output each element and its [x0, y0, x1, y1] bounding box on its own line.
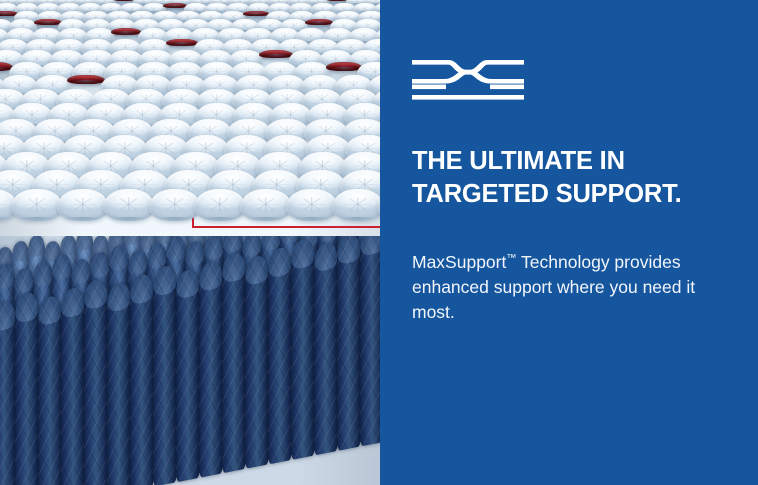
- pocket-coil: [38, 295, 62, 485]
- micro-coil: [11, 189, 63, 221]
- accent-coil: [67, 75, 105, 84]
- pocket-coil: [337, 236, 361, 451]
- product-name: MaxSupport: [412, 252, 506, 272]
- pocket-coil: [245, 254, 269, 469]
- promo-banner: THE ULTIMATE IN TARGETED SUPPORT. MaxSup…: [0, 0, 758, 485]
- micro-coil: [332, 189, 380, 221]
- accent-coil: [111, 28, 141, 35]
- navy-pocket-coil-layer: [0, 236, 380, 485]
- accent-coil: [113, 0, 135, 1]
- pocket-coil: [153, 264, 177, 485]
- accent-coil: [305, 19, 333, 25]
- micro-coil: [57, 189, 109, 221]
- pocket-coil: [15, 291, 39, 485]
- wave-lines-logo-icon: [412, 58, 524, 102]
- pocket-coil: [107, 281, 131, 485]
- mattress-product-photo: [0, 0, 380, 485]
- trademark-symbol: ™: [506, 253, 516, 264]
- body-copy: MaxSupport™ Technology provides enhanced…: [412, 250, 712, 325]
- coil-row: [0, 189, 380, 221]
- accent-coil: [326, 62, 362, 71]
- micro-coil: [103, 189, 155, 221]
- pocket-coil: [268, 246, 292, 465]
- pocket-coil: [176, 268, 200, 483]
- pocket-coil: [84, 278, 108, 485]
- micro-coil: [194, 189, 246, 221]
- pocket-coil: [314, 241, 338, 456]
- pocket-coil: [291, 237, 315, 460]
- accent-coil: [243, 11, 269, 17]
- pocket-coil: [199, 259, 223, 478]
- accent-coil: [259, 50, 293, 58]
- micro-coil: [286, 189, 338, 221]
- accent-coil: [326, 0, 348, 1]
- accent-coil: [163, 3, 187, 8]
- page-title: THE ULTIMATE IN TARGETED SUPPORT.: [412, 145, 742, 210]
- micro-coil: [149, 189, 201, 221]
- pocket-coil: [130, 273, 154, 485]
- accent-coil: [166, 39, 198, 47]
- pocket-coil: [0, 299, 16, 485]
- content-panel: THE ULTIMATE IN TARGETED SUPPORT. MaxSup…: [380, 0, 758, 485]
- pocket-coil: [360, 236, 380, 447]
- headline-line-1: THE ULTIMATE IN: [412, 145, 742, 178]
- headline-line-2: TARGETED SUPPORT.: [412, 178, 742, 211]
- pocket-coil: [61, 286, 85, 485]
- pocket-coil: [222, 251, 246, 474]
- micro-coil: [240, 189, 292, 221]
